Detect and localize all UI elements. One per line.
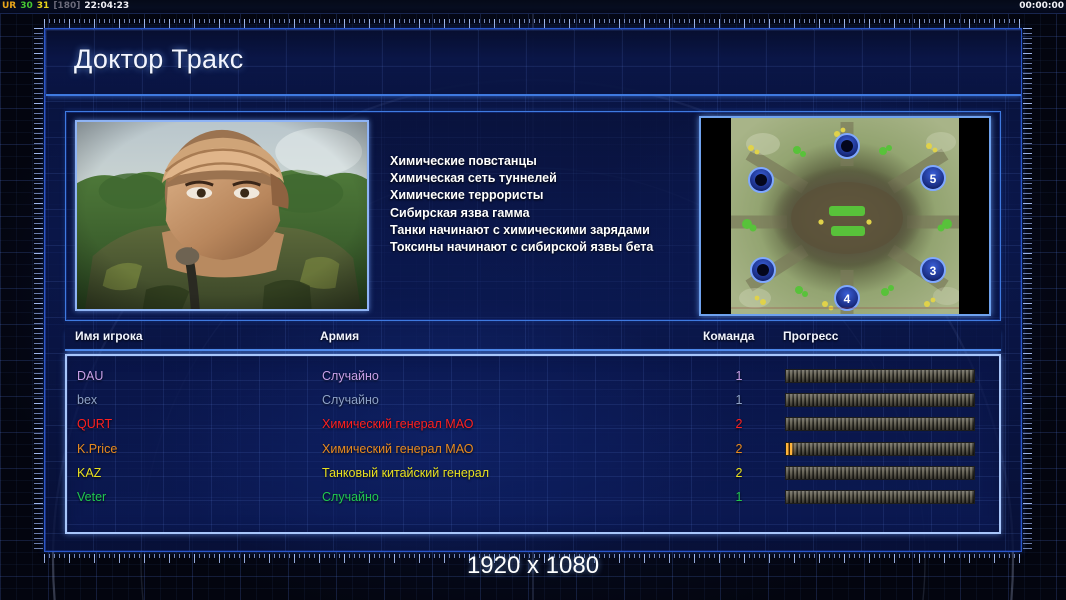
player-team: 1 bbox=[727, 488, 751, 506]
player-team: 2 bbox=[727, 440, 751, 458]
portrait-artwork bbox=[77, 122, 367, 310]
player-progress-bar bbox=[785, 490, 975, 504]
main-panel: Доктор Тракс bbox=[44, 28, 1022, 552]
player-progress-bar bbox=[785, 466, 975, 480]
briefing-section: Химические повстанцы Химическая сеть тун… bbox=[65, 111, 1001, 321]
svg-text:3: 3 bbox=[930, 264, 937, 278]
player-name: bex bbox=[77, 391, 97, 409]
player-team: 2 bbox=[727, 464, 751, 482]
topbar-ur-label: UR bbox=[0, 0, 18, 13]
player-army: Случайно bbox=[322, 488, 379, 506]
player-name: Veter bbox=[77, 488, 106, 506]
topbar-clock: 22:04:23 bbox=[82, 0, 131, 13]
progress-track bbox=[786, 418, 975, 430]
table-row[interactable]: K.PriceХимический генерал МАО2 bbox=[67, 437, 999, 461]
player-army: Химический генерал МАО bbox=[322, 415, 473, 433]
topbar-value-b: 31 bbox=[35, 0, 52, 13]
progress-track bbox=[786, 467, 975, 479]
briefing-line: Токсины начинают с сибирской язвы бета bbox=[390, 239, 720, 256]
player-name: KAZ bbox=[77, 464, 101, 482]
resolution-label: 1920 x 1080 bbox=[0, 552, 1066, 580]
briefing-line: Химические террористы bbox=[390, 187, 720, 204]
player-progress-bar bbox=[785, 417, 975, 431]
column-header-progress: Прогресс bbox=[783, 329, 838, 343]
player-army: Случайно bbox=[322, 367, 379, 385]
player-army: Случайно bbox=[322, 391, 379, 409]
player-team: 1 bbox=[727, 367, 751, 385]
briefing-text: Химические повстанцы Химическая сеть тун… bbox=[390, 153, 720, 256]
progress-track bbox=[786, 394, 975, 406]
player-army: Химический генерал МАО bbox=[322, 440, 473, 458]
player-progress-bar bbox=[785, 442, 975, 456]
player-name: QURT bbox=[77, 415, 112, 433]
briefing-line: Танки начинают с химическими зарядами bbox=[390, 222, 720, 239]
player-progress-bar bbox=[785, 369, 975, 383]
page-title: Доктор Тракс bbox=[74, 44, 244, 75]
title-band: Доктор Тракс bbox=[46, 30, 1022, 96]
table-row[interactable]: KAZТанковый китайский генерал2 bbox=[67, 461, 999, 485]
column-header-name: Имя игрока bbox=[75, 329, 143, 343]
loading-screen: UR 30 31 [180] 22:04:23 00:00:00 Доктор … bbox=[0, 0, 1066, 600]
briefing-line: Химическая сеть туннелей bbox=[390, 170, 720, 187]
map-letterbox-right bbox=[959, 118, 989, 316]
briefing-line: Химические повстанцы bbox=[390, 153, 720, 170]
briefing-line: Сибирская язва гамма bbox=[390, 205, 720, 222]
map-letterbox-left bbox=[701, 118, 731, 316]
table-row[interactable]: VeterСлучайно1 bbox=[67, 485, 999, 509]
column-header-team: Команда bbox=[703, 329, 754, 343]
player-list-header: Имя игрока Армия Команда Прогресс bbox=[65, 329, 1001, 351]
table-row[interactable]: DAUСлучайно1 bbox=[67, 364, 999, 388]
topbar-value-c: [180] bbox=[51, 0, 82, 13]
progress-track bbox=[786, 443, 975, 455]
general-portrait bbox=[75, 120, 369, 311]
svg-text:5: 5 bbox=[930, 172, 937, 186]
progress-track bbox=[786, 370, 975, 382]
svg-text:4: 4 bbox=[844, 292, 851, 306]
map-artwork: 5 3 4 bbox=[701, 118, 991, 316]
topbar-timer: 00:00:00 bbox=[1017, 0, 1066, 13]
player-team: 2 bbox=[727, 415, 751, 433]
column-header-army: Армия bbox=[320, 329, 359, 343]
progress-fill bbox=[786, 443, 792, 455]
topbar-value-a: 30 bbox=[18, 0, 35, 13]
map-preview: 5 3 4 bbox=[699, 116, 991, 316]
table-row[interactable]: bexСлучайно1 bbox=[67, 388, 999, 412]
player-progress-bar bbox=[785, 393, 975, 407]
player-name: DAU bbox=[77, 367, 103, 385]
panel-body: Доктор Тракс bbox=[44, 28, 1022, 552]
top-status-bar: UR 30 31 [180] 22:04:23 00:00:00 bbox=[0, 0, 1066, 14]
table-row[interactable]: QURTХимический генерал МАО2 bbox=[67, 412, 999, 436]
player-list: DAUСлучайно1bexСлучайно1QURTХимический г… bbox=[65, 354, 1001, 534]
player-army: Танковый китайский генерал bbox=[322, 464, 489, 482]
player-name: K.Price bbox=[77, 440, 117, 458]
progress-track bbox=[786, 491, 975, 503]
player-team: 1 bbox=[727, 391, 751, 409]
